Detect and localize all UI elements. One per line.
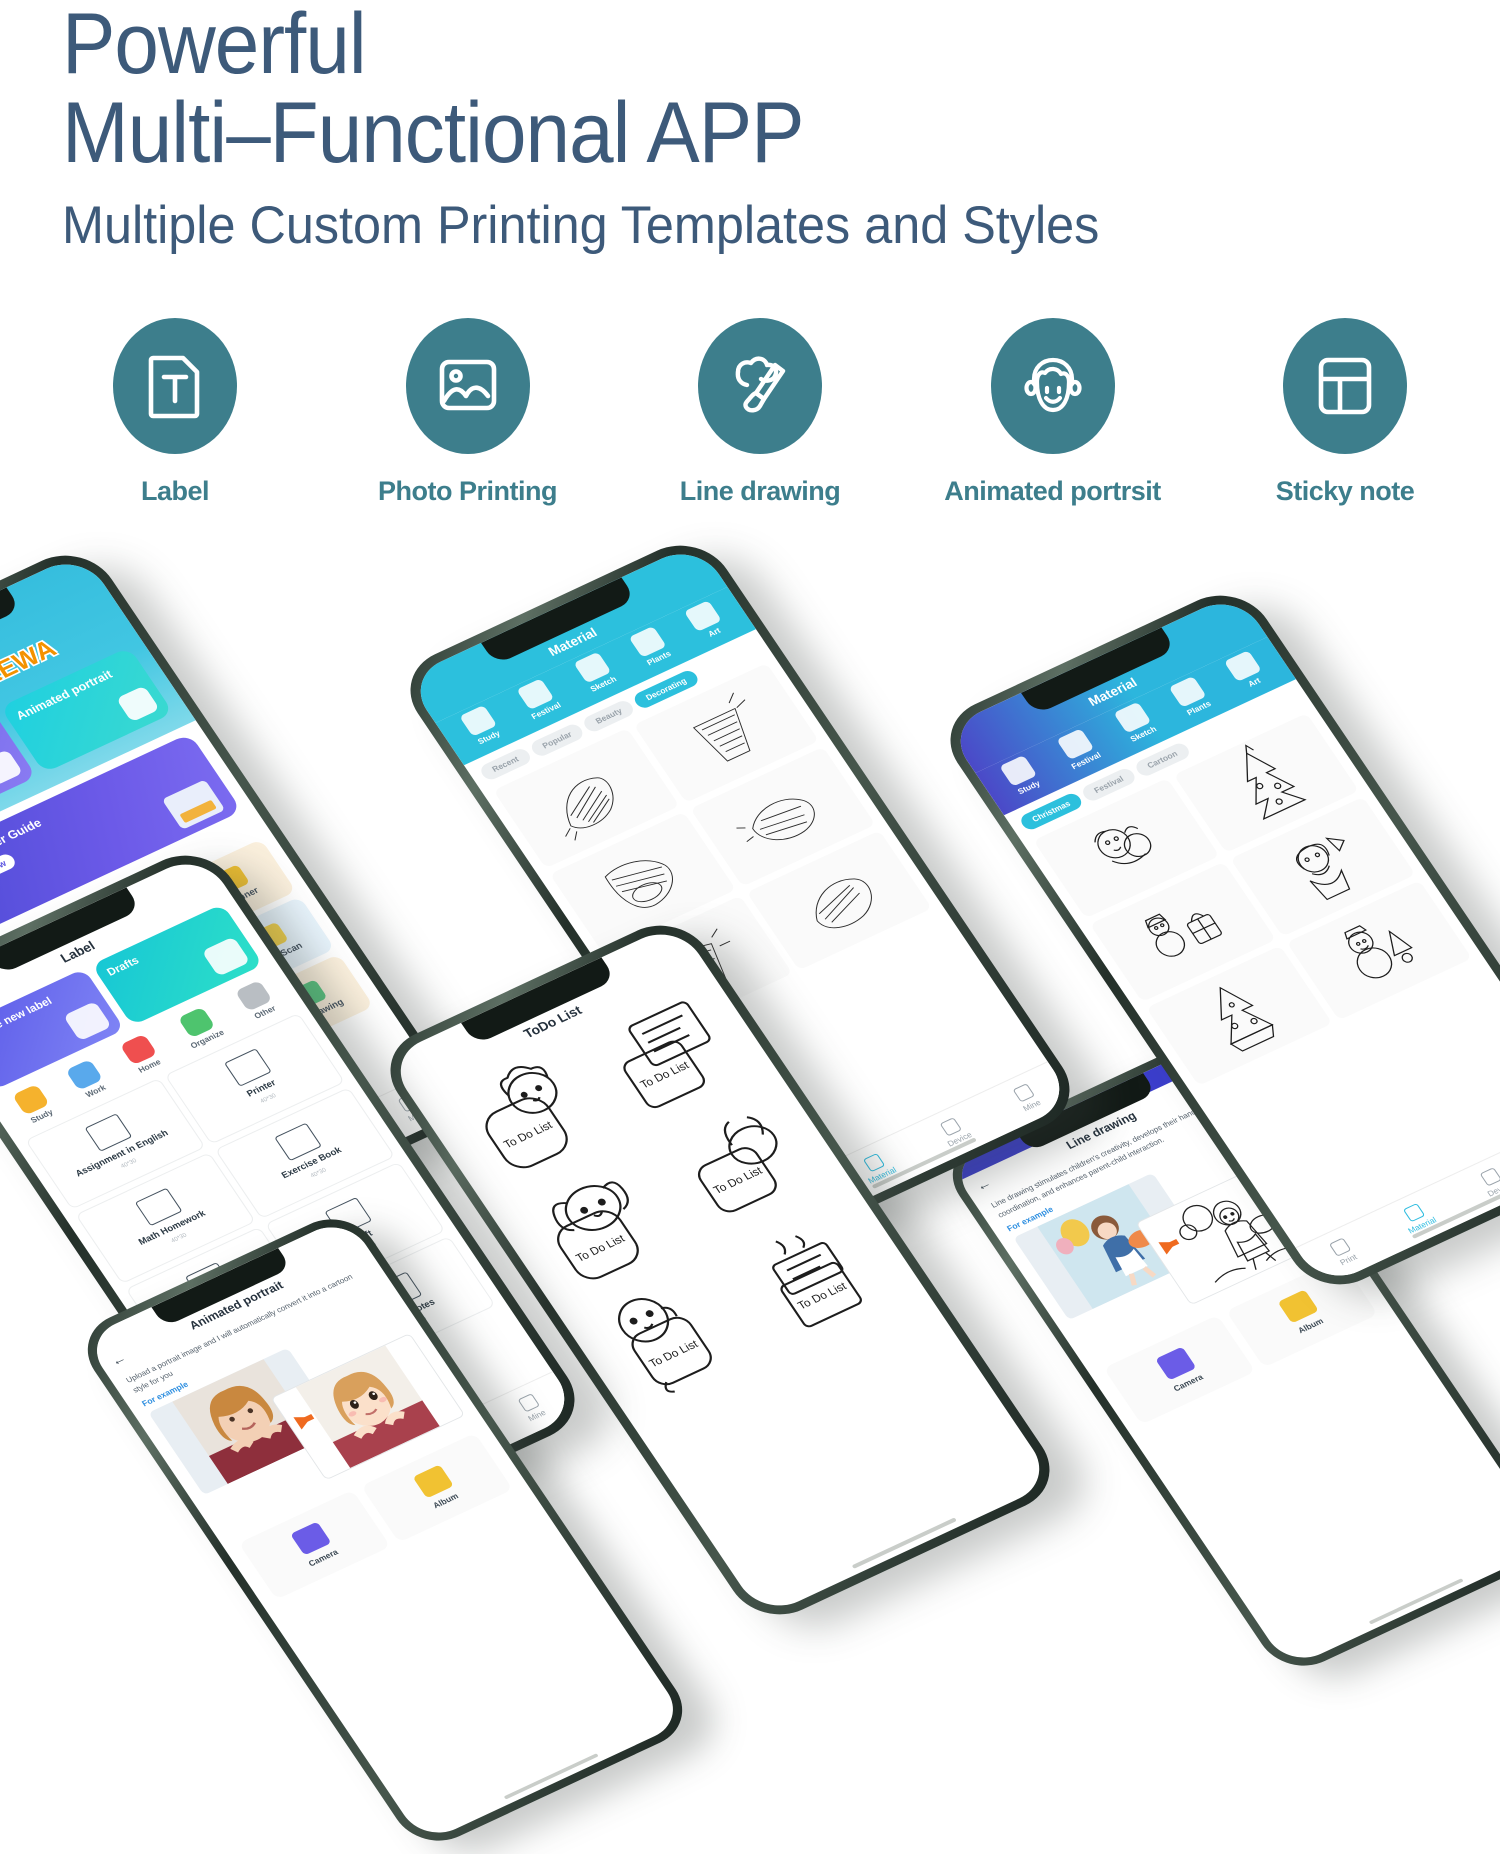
svg-text:To Do List: To Do List — [795, 1281, 849, 1313]
template-size: 40*30 — [170, 1232, 188, 1244]
feature-animated-portrait[interactable]: Animated portrsit — [938, 318, 1168, 507]
nav-item-mine[interactable]: Mine — [516, 1393, 548, 1423]
guide-button-label: Go to View — [0, 858, 8, 887]
headline-subtitle: Multiple Custom Printing Templates and S… — [62, 198, 1392, 254]
category-label: Art — [706, 626, 722, 639]
category-study[interactable]: Study — [459, 705, 504, 747]
label-category-study[interactable]: Study — [12, 1084, 57, 1126]
label-category-home[interactable]: Home — [119, 1034, 164, 1076]
label-text-document-icon — [113, 318, 237, 454]
nav-item-mine[interactable]: Mine — [1011, 1083, 1043, 1113]
feature-label-text: Line drawing — [680, 476, 841, 507]
headline-line-1: Powerful — [62, 2, 1364, 87]
template-size: 40*30 — [120, 1158, 138, 1170]
category-plants[interactable]: Plants — [1169, 676, 1214, 718]
headline-block: Powerful Multi–Functional APP Multiple C… — [62, 2, 1462, 254]
feature-label-text: Sticky note — [1276, 476, 1415, 507]
svg-text:To Do List: To Do List — [638, 1060, 692, 1092]
category-sketch[interactable]: Sketch — [573, 652, 618, 694]
nav-item-print[interactable]: Print — [1328, 1237, 1359, 1267]
home-indicator — [504, 1753, 599, 1799]
headline-line-2: Multi–Functional APP — [62, 91, 1364, 176]
printer-illustration-icon — [162, 779, 226, 830]
feature-label[interactable]: Label — [60, 318, 290, 507]
category-label: Art — [1246, 676, 1262, 689]
go-to-view-button[interactable]: Go to View — [0, 852, 18, 894]
label-category-work[interactable]: Work — [66, 1059, 111, 1101]
label-category-organize[interactable]: Organize — [173, 1005, 226, 1050]
feature-line-drawing[interactable]: Line drawing — [645, 318, 875, 507]
feature-icon-row: Label Photo Printing Line drawing — [60, 318, 1460, 507]
feature-label-text: Animated portrsit — [944, 476, 1161, 507]
svg-text:To Do List: To Do List — [502, 1119, 556, 1151]
cartoon-face-icon — [991, 318, 1115, 454]
drafts-icon — [202, 936, 251, 976]
photo-image-icon — [406, 318, 530, 454]
nav-item-device[interactable]: Device — [1475, 1165, 1500, 1199]
home-indicator — [1369, 1578, 1464, 1624]
svg-text:To Do List: To Do List — [574, 1233, 628, 1265]
feature-label-text: Label — [141, 476, 209, 507]
category-art[interactable]: Art — [1224, 650, 1269, 692]
label-category-other[interactable]: Other — [235, 980, 280, 1022]
card-label: Drafts — [105, 955, 142, 979]
feature-label-text: Photo Printing — [378, 476, 557, 507]
photo-card-icon — [0, 749, 23, 786]
category-festival[interactable]: Festival — [514, 678, 562, 721]
device-icon — [1480, 1167, 1500, 1186]
home-indicator — [852, 1517, 957, 1568]
category-sketch[interactable]: Sketch — [1113, 702, 1158, 744]
category-art[interactable]: Art — [684, 600, 729, 642]
template-size: 40*30 — [310, 1167, 328, 1179]
svg-text:To Do List: To Do List — [647, 1338, 701, 1370]
new-label-icon — [63, 1001, 112, 1041]
template-size: 40*30 — [259, 1093, 277, 1105]
category-study[interactable]: Study — [999, 755, 1044, 797]
feature-sticky-note[interactable]: Sticky note — [1230, 318, 1460, 507]
category-plants[interactable]: Plants — [629, 626, 674, 668]
phone-mockup-stage: + Add Device DOLEWA Photo Printing Anima… — [0, 540, 1500, 1440]
category-festival[interactable]: Festival — [1054, 728, 1102, 771]
sticky-note-layout-icon — [1283, 318, 1407, 454]
bottom-navigation: Print Material Device Mine — [1295, 1111, 1500, 1288]
paint-brush-icon — [698, 318, 822, 454]
svg-text:To Do List: To Do List — [711, 1165, 765, 1197]
feature-photo-printing[interactable]: Photo Printing — [353, 318, 583, 507]
face-card-icon — [116, 686, 160, 723]
card-label: Create new label — [0, 995, 54, 1043]
